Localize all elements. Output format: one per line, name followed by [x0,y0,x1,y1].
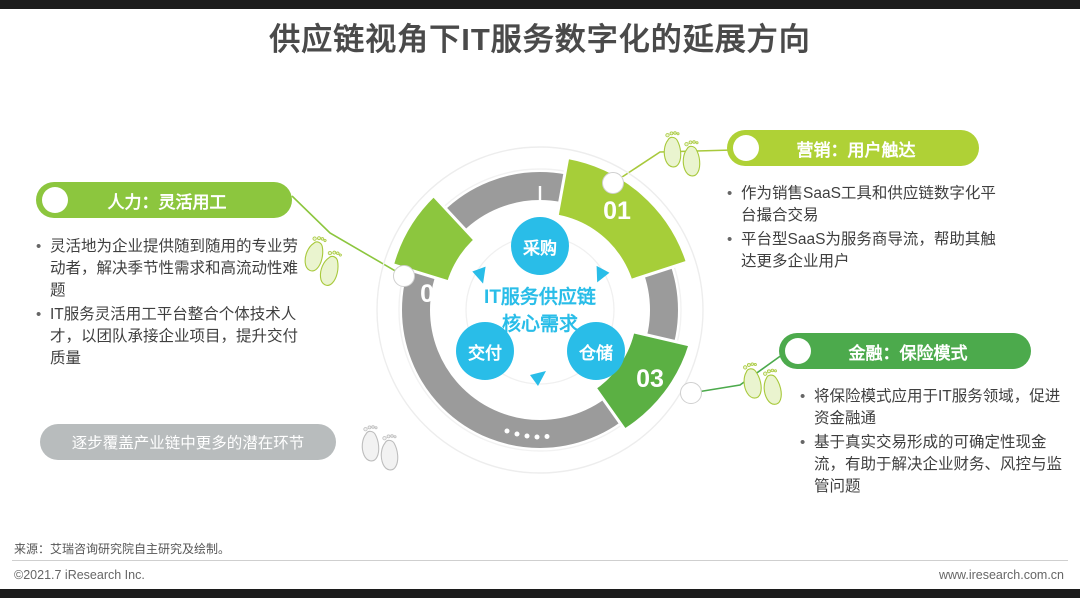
bullet-dot-icon: • [727,183,741,227]
bubble-procurement-label: 采购 [522,238,557,258]
callout-marketing-title: 营销：用户触达 [759,136,979,161]
slide-canvas: 供应链视角下IT服务数字化的延展方向 [0,0,1080,598]
segment-01-number: 01 [603,197,631,225]
callout-marketing-bullets: • 作为销售SaaS工具和供应链数字化平台撮合交易 • 平台型SaaS为服务商导… [727,183,997,275]
bullet-dot-icon: • [36,304,50,370]
knob-segment-02[interactable] [394,266,415,287]
bubble-warehouse-label: 仓储 [578,343,613,363]
segment-02-number: 02 [420,280,448,308]
top-band [0,0,1080,9]
list-item: • 作为销售SaaS工具和供应链数字化平台撮合交易 [727,183,997,227]
callout-finance-header[interactable]: 金融：保险模式 [779,333,1031,369]
callout-hr-bullet-1: 灵活地为企业提供随到随用的专业劳动者，解决季节性需求和高流动性难题 [50,236,306,302]
list-item: • IT服务灵活用工平台整合个体技术人才，以团队承接企业项目，提升交付质量 [36,304,306,370]
bottom-band [0,589,1080,598]
callout-finance-bullets: • 将保险模式应用于IT服务领域，促进资金融通 • 基于真实交易形成的可确定性现… [800,386,1065,500]
bullet-dot-icon: • [800,386,814,430]
list-item: • 灵活地为企业提供随到随用的专业劳动者，解决季节性需求和高流动性难题 [36,236,306,302]
footprints-icon-finance [741,359,782,408]
wheel-center-title-line1: IT服务供应链 [484,285,596,308]
copyright-text: ©2021.7 iResearch Inc. [14,568,145,582]
callout-finance-title: 金融：保险模式 [811,339,1031,364]
bullet-knob-icon [42,187,68,213]
source-note: 来源：艾瑞咨询研究院自主研究及绘制。 [14,540,230,557]
note-pill: 逐步覆盖产业链中更多的潜在环节 [40,424,336,460]
callout-finance-bullet-2: 基于真实交易形成的可确定性现金流，有助于解决企业财务、风控与监管问题 [814,432,1065,498]
callout-hr-bullets: • 灵活地为企业提供随到随用的专业劳动者，解决季节性需求和高流动性难题 • IT… [36,236,306,372]
segment-03-number: 03 [636,365,664,393]
callout-marketing-bullet-2: 平台型SaaS为服务商导流，帮助其触达更多企业用户 [741,229,997,273]
callout-marketing-header[interactable]: 营销：用户触达 [727,130,979,166]
callout-hr-header[interactable]: 人力：灵活用工 [36,182,292,218]
footer-divider [12,560,1068,561]
callout-finance-bullet-1: 将保险模式应用于IT服务领域，促进资金融通 [814,386,1065,430]
footprints-icon-hr [299,234,346,287]
bubble-delivery-label: 交付 [468,343,502,363]
list-item: • 基于真实交易形成的可确定性现金流，有助于解决企业财务、风控与监管问题 [800,432,1065,498]
wheel-center-title-line2: 核心需求 [502,312,579,335]
callout-hr-bullet-2: IT服务灵活用工平台整合个体技术人才，以团队承接企业项目，提升交付质量 [50,304,306,370]
supply-chain-wheel: 01 02 03 采购 仓储 交付 IT服务供应 [355,140,725,480]
callout-hr-title: 人力：灵活用工 [68,188,292,213]
knob-segment-03[interactable] [681,383,702,404]
bullet-knob-icon [733,135,759,161]
list-item: • 将保险模式应用于IT服务领域，促进资金融通 [800,386,1065,430]
knob-segment-01[interactable] [603,173,624,194]
list-item: • 平台型SaaS为服务商导流，帮助其触达更多企业用户 [727,229,997,273]
bullet-dot-icon: • [727,229,741,273]
callout-marketing-bullet-1: 作为销售SaaS工具和供应链数字化平台撮合交易 [741,183,997,227]
website-url: www.iresearch.com.cn [939,568,1064,582]
bullet-knob-icon [785,338,811,364]
bullet-dot-icon: • [800,432,814,498]
bubble-procurement[interactable]: 采购 [511,217,569,275]
page-title: 供应链视角下IT服务数字化的延展方向 [0,14,1080,59]
bullet-dot-icon: • [36,236,50,302]
